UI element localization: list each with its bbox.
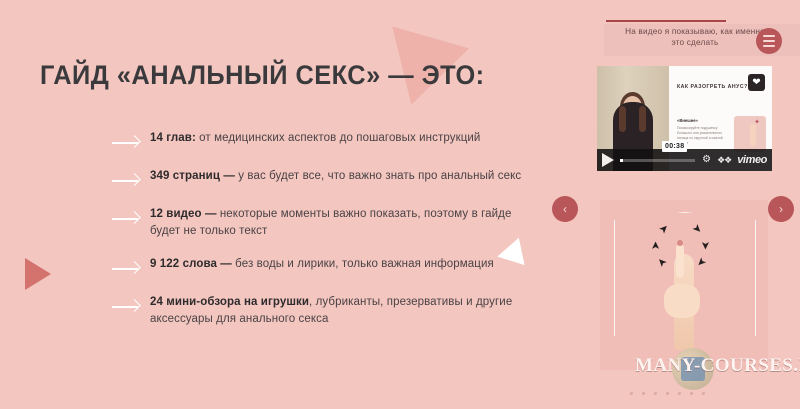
- arrow-icon: ➤: [699, 241, 710, 250]
- hamburger-icon[interactable]: [756, 28, 782, 54]
- presenter-hair-right: [639, 106, 646, 132]
- list-item-separator: —: [202, 208, 220, 220]
- list-item-text: 24 мини-обзора на игрушки, лубриканты, п…: [150, 294, 532, 328]
- feature-list: 14 глав: от медицинских аспектов до поша…: [112, 130, 532, 344]
- list-item-text: 349 страниц — у вас будет все, что важно…: [150, 168, 521, 185]
- list-item: 24 мини-обзора на игрушки, лубриканты, п…: [112, 294, 532, 328]
- gear-icon[interactable]: ⚙: [702, 155, 711, 165]
- play-icon[interactable]: [602, 153, 614, 167]
- watermark-text: MANY-COURSES.RU: [635, 355, 800, 377]
- video-controls[interactable]: 00:38 ⚙ ❖❖ vimeo: [597, 149, 772, 171]
- list-item-separator: —: [220, 170, 238, 182]
- video-progress-fill: [620, 159, 623, 162]
- chevron-left-icon[interactable]: ‹: [552, 196, 578, 222]
- list-item-text: 12 видео — некоторые моменты важно показ…: [150, 206, 532, 240]
- illustration-fist: [664, 284, 700, 318]
- presenter-hair-left: [619, 106, 626, 132]
- illustration-finger: [676, 244, 684, 278]
- sparkle-icon: ✦: [754, 119, 760, 126]
- pagination-dot[interactable]: [630, 392, 633, 395]
- list-item-rest: у вас будет все, что важно знать про ана…: [238, 170, 521, 182]
- list-item-rest: от медицинских аспектов до пошаговых инс…: [196, 132, 481, 144]
- list-item-lead: 14 глав:: [150, 132, 196, 144]
- fullscreen-icon[interactable]: ❖❖: [717, 156, 731, 165]
- arrow-icon: ➤: [651, 241, 662, 250]
- video-slide-finger: [750, 124, 756, 146]
- list-item: 349 страниц — у вас будет все, что важно…: [112, 168, 532, 190]
- list-item-text: 9 122 слова — без воды и лирики, только …: [150, 256, 494, 273]
- list-item: 14 глав: от медицинских аспектов до поша…: [112, 130, 532, 152]
- caption-text: На видео я показываю, как именно это сде…: [620, 26, 770, 48]
- pagination-dot[interactable]: [642, 392, 645, 395]
- arrow-right-icon: [112, 298, 150, 316]
- arrow-right-icon: [112, 260, 150, 278]
- pagination-dot[interactable]: [654, 392, 657, 395]
- pagination-dot[interactable]: [702, 392, 705, 395]
- chevron-right-icon[interactable]: ›: [768, 196, 794, 222]
- list-item-lead: 12 видео: [150, 208, 202, 220]
- slide-canvas: ГАЙД «АНАЛЬНЫЙ СЕКС» — ЭТО: 14 глав: от …: [0, 0, 800, 409]
- pagination-dots[interactable]: [630, 392, 705, 395]
- illustration-focus-point: [677, 240, 683, 246]
- video-slide-body-heading: «Внешне»: [677, 118, 698, 123]
- page-title: ГАЙД «АНАЛЬНЫЙ СЕКС» — ЭТО:: [40, 60, 485, 91]
- pagination-dot[interactable]: [690, 392, 693, 395]
- video-progress-bar[interactable]: 00:38: [620, 159, 695, 162]
- list-item-rest: без воды и лирики, только важная информа…: [235, 258, 494, 270]
- illustration-card: ➤ ➤ ➤ ➤ ➤ ➤: [600, 200, 768, 370]
- video-timestamp: 00:38: [662, 141, 687, 152]
- arrow-right-icon: [112, 134, 150, 152]
- list-item-lead: 349 страниц: [150, 170, 220, 182]
- video-player[interactable]: КАК РАЗОГРЕТЬ АНУС? «Внешне» Помассируйт…: [597, 66, 772, 171]
- list-item-lead: 9 122 слова: [150, 258, 217, 270]
- arrow-right-icon: [112, 210, 150, 228]
- arrow-right-icon: [112, 172, 150, 190]
- list-item: 12 видео — некоторые моменты важно показ…: [112, 206, 532, 240]
- divider-rule: [606, 20, 726, 22]
- list-item-separator: —: [217, 258, 235, 270]
- list-item-lead: 24 мини-обзора на игрушки: [150, 296, 309, 308]
- list-item-text: 14 глав: от медицинских аспектов до поша…: [150, 130, 480, 147]
- list-item: 9 122 слова — без воды и лирики, только …: [112, 256, 532, 278]
- heart-icon[interactable]: ❤: [748, 74, 765, 91]
- vimeo-logo[interactable]: vimeo: [737, 155, 767, 166]
- pagination-dot[interactable]: [666, 392, 669, 395]
- pagination-dot[interactable]: [678, 392, 681, 395]
- decorative-triangle-left: [25, 258, 51, 290]
